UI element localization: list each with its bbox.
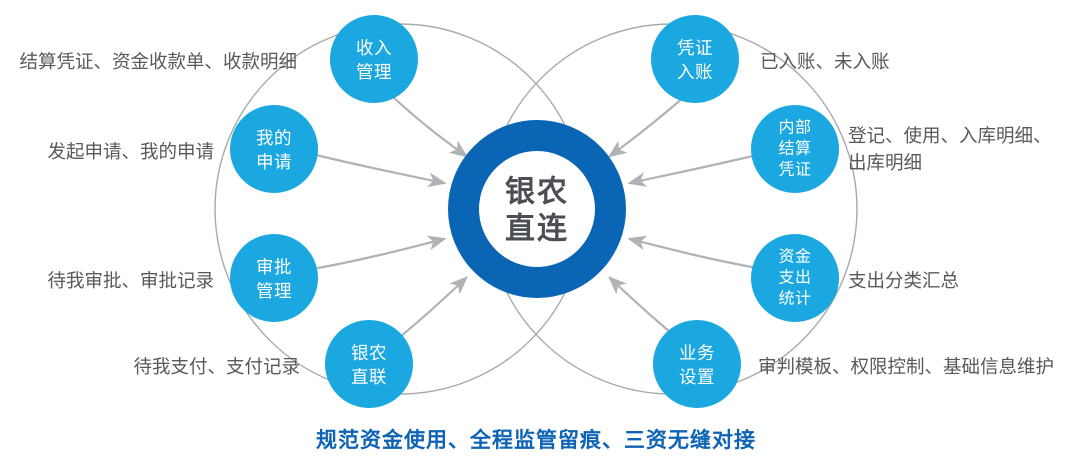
connector-income-management	[393, 97, 466, 156]
node-label-line1: 资金	[778, 248, 811, 266]
caption-business-settings: 审判模板、权限控制、基础信息维护	[758, 353, 1072, 380]
node-circle[interactable]	[230, 105, 318, 193]
node-internal-settlement-voucher[interactable]: 内部 结算 凭证	[751, 105, 839, 193]
node-label-line1: 审批	[256, 257, 292, 277]
node-income-management[interactable]: 收入 管理	[330, 15, 418, 103]
node-label-line2: 直联	[351, 367, 387, 387]
caption-approval-management: 待我审批、审批记录	[0, 267, 214, 294]
connector-my-application	[316, 155, 444, 183]
caption-fund-expenditure-statistics: 支出分类汇总	[848, 267, 1072, 294]
node-label-line2: 入账	[677, 62, 713, 82]
footer-slogan: 规范资金使用、全程监管留痕、三资无缝对接	[0, 424, 1072, 454]
node-circle[interactable]	[230, 234, 318, 322]
caption-voucher-entry: 已入账、未入账	[760, 48, 1060, 75]
node-approval-management[interactable]: 审批 管理	[230, 234, 318, 322]
node-label-line2: 设置	[679, 367, 715, 387]
diagram-canvas: 银农 直连 收入 管理 我的 申请 审批 管理 银农 直联 凭证	[0, 0, 1072, 471]
node-label-line2: 管理	[256, 281, 292, 301]
node-label-line2: 支出	[778, 269, 811, 287]
node-label-line1: 我的	[256, 128, 292, 148]
center-hub-label-line2: 直连	[505, 213, 569, 246]
node-my-application[interactable]: 我的 申请	[230, 105, 318, 193]
node-label-line2: 结算	[778, 139, 811, 158]
node-label-line1: 业务	[679, 343, 715, 363]
connector-voucher-entry	[610, 97, 684, 156]
node-circle[interactable]	[330, 15, 418, 103]
node-label-line3: 统计	[778, 290, 811, 308]
center-hub-label-line1: 银农	[505, 176, 569, 209]
caption-internal-settlement-voucher: 登记、使用、入库明细、 出库明细	[848, 122, 1072, 176]
node-circle[interactable]	[653, 320, 741, 408]
caption-income-management: 结算凭证、资金收款单、收款明细	[0, 48, 297, 75]
node-circle[interactable]	[651, 15, 739, 103]
connector-business-settings	[610, 278, 676, 337]
node-bank-agriculture-direct[interactable]: 银农 直联	[325, 320, 413, 408]
connector-internal-settlement-voucher	[630, 155, 757, 183]
caption-bank-agriculture-direct: 待我支付、支付记录	[0, 353, 300, 380]
node-label-line1: 凭证	[677, 38, 713, 58]
node-label-line3: 凭证	[778, 161, 811, 179]
node-circle[interactable]	[325, 320, 413, 408]
node-label-line1: 收入	[356, 38, 392, 58]
node-label-line2: 管理	[356, 62, 392, 82]
connector-approval-management	[318, 239, 444, 268]
node-label-line1: 银农	[351, 343, 387, 363]
node-business-settings[interactable]: 业务 设置	[653, 320, 741, 408]
node-label-line1: 内部	[778, 119, 811, 137]
node-fund-expenditure-statistics[interactable]: 资金 支出 统计	[751, 234, 839, 322]
connector-bank-agriculture-direct	[400, 278, 466, 337]
node-voucher-entry[interactable]: 凭证 入账	[651, 15, 739, 103]
caption-my-application: 发起申请、我的申请	[0, 138, 214, 165]
connector-fund-expenditure-statistics	[630, 239, 757, 268]
node-label-line2: 申请	[256, 152, 292, 172]
